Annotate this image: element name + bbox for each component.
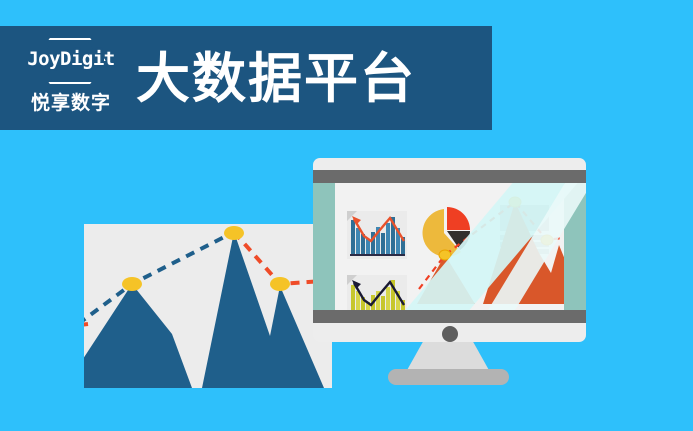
poster-canvas: JoyDigit 悦享数字 大数据平台: [0, 0, 693, 431]
logo-chinese-name: 悦享数字: [16, 88, 126, 115]
monitor-stand-base: [388, 369, 509, 385]
monitor-bezel-bottom: [313, 310, 586, 323]
screen-glare: [313, 183, 586, 310]
data-marker: [122, 277, 142, 291]
data-marker: [270, 277, 290, 291]
monitor-bezel-top: [313, 170, 586, 183]
monitor: [313, 158, 586, 342]
trend-dash-blue: [84, 232, 234, 324]
mountain-area-left: [84, 232, 332, 388]
brand-logo: JoyDigit 悦享数字: [16, 36, 126, 122]
left-area-chart-panel: [84, 224, 332, 388]
data-marker: [224, 226, 244, 240]
monitor-screen: [313, 183, 586, 310]
monitor-stand-neck: [406, 342, 490, 372]
trend-dash-red-start: [84, 324, 88, 325]
left-area-chart-svg: [84, 224, 332, 388]
page-title: 大数据平台: [136, 52, 416, 106]
logo-english-name: JoyDigit: [16, 48, 126, 70]
header-banner: JoyDigit 悦享数字 大数据平台: [0, 26, 492, 130]
power-button[interactable]: [442, 326, 458, 342]
